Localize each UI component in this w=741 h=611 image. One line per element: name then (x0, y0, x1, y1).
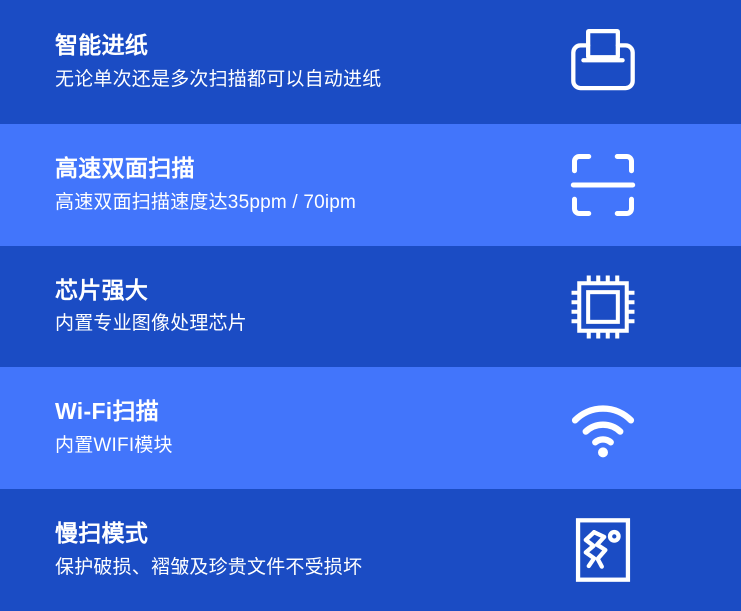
feature-row-wifi-scan: Wi-Fi扫描 内置WIFI模块 (0, 367, 741, 489)
feature-title: Wi-Fi扫描 (55, 397, 173, 426)
feature-text-block: Wi-Fi扫描 内置WIFI模块 (55, 397, 173, 458)
feature-text-block: 高速双面扫描 高速双面扫描速度达35ppm / 70ipm (55, 154, 356, 215)
feature-title: 智能进纸 (55, 31, 381, 60)
printer-feed-icon (565, 24, 641, 100)
feature-row-smart-feed: 智能进纸 无论单次还是多次扫描都可以自动进纸 (0, 0, 741, 124)
scan-frame-icon (565, 147, 641, 223)
chip-icon (565, 269, 641, 345)
feature-subtitle: 无论单次还是多次扫描都可以自动进纸 (55, 68, 381, 93)
wifi-icon (565, 390, 641, 466)
feature-row-duplex-scan: 高速双面扫描 高速双面扫描速度达35ppm / 70ipm (0, 124, 741, 246)
feature-text-block: 芯片强大 内置专业图像处理芯片 (55, 276, 247, 337)
feature-title: 芯片强大 (55, 276, 247, 305)
feature-row-powerful-chip: 芯片强大 内置专业图像处理芯片 (0, 246, 741, 367)
feature-subtitle: 内置专业图像处理芯片 (55, 312, 247, 337)
feature-list-panel: 智能进纸 无论单次还是多次扫描都可以自动进纸 高速双面扫描 高速双面扫描速度达3… (0, 0, 741, 611)
feature-subtitle: 内置WIFI模块 (55, 434, 173, 459)
feature-row-slow-scan: 慢扫模式 保护破损、褶皱及珍贵文件不受损坏 (0, 489, 741, 611)
feature-text-block: 智能进纸 无论单次还是多次扫描都可以自动进纸 (55, 31, 381, 92)
feature-title: 高速双面扫描 (55, 154, 356, 183)
torn-document-icon (565, 512, 641, 588)
feature-title: 慢扫模式 (55, 519, 362, 548)
feature-subtitle: 高速双面扫描速度达35ppm / 70ipm (55, 191, 356, 216)
feature-text-block: 慢扫模式 保护破损、褶皱及珍贵文件不受损坏 (55, 519, 362, 580)
feature-subtitle: 保护破损、褶皱及珍贵文件不受损坏 (55, 556, 362, 581)
